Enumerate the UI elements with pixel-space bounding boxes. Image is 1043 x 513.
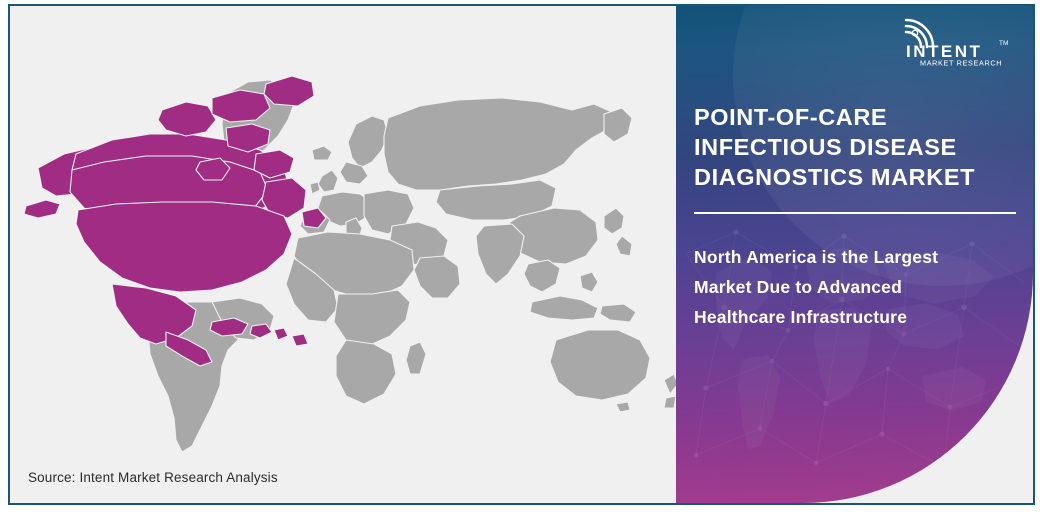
title-line-3: DIAGNOSTICS MARKET: [694, 162, 1024, 192]
world-map-panel: Source: Intent Market Research Analysis: [10, 6, 682, 503]
world-map: [16, 58, 682, 458]
subtitle-line-3: Healthcare Infrastructure: [694, 302, 1024, 332]
title-line-2: INFECTIOUS DISEASE: [694, 132, 1024, 162]
title-line-1: POINT-OF-CARE: [694, 102, 1024, 132]
intent-market-research-logo: INTENT TM MARKET RESEARCH: [899, 16, 1017, 68]
subtitle-line-1: North America is the Largest: [694, 242, 1024, 272]
logo-trademark: TM: [999, 40, 1008, 47]
page-subtitle: North America is the Largest Market Due …: [694, 242, 1024, 332]
infographic-card: Source: Intent Market Research Analysis: [8, 4, 1035, 505]
subtitle-line-2: Market Due to Advanced: [694, 272, 1024, 302]
source-note: Source: Intent Market Research Analysis: [28, 470, 278, 485]
title-panel: INTENT TM MARKET RESEARCH POINT-OF-CARE …: [676, 6, 1033, 503]
page-title: POINT-OF-CARE INFECTIOUS DISEASE DIAGNOS…: [694, 102, 1024, 192]
logo-tagline: MARKET RESEARCH: [920, 59, 1002, 68]
title-divider: [694, 212, 1016, 214]
